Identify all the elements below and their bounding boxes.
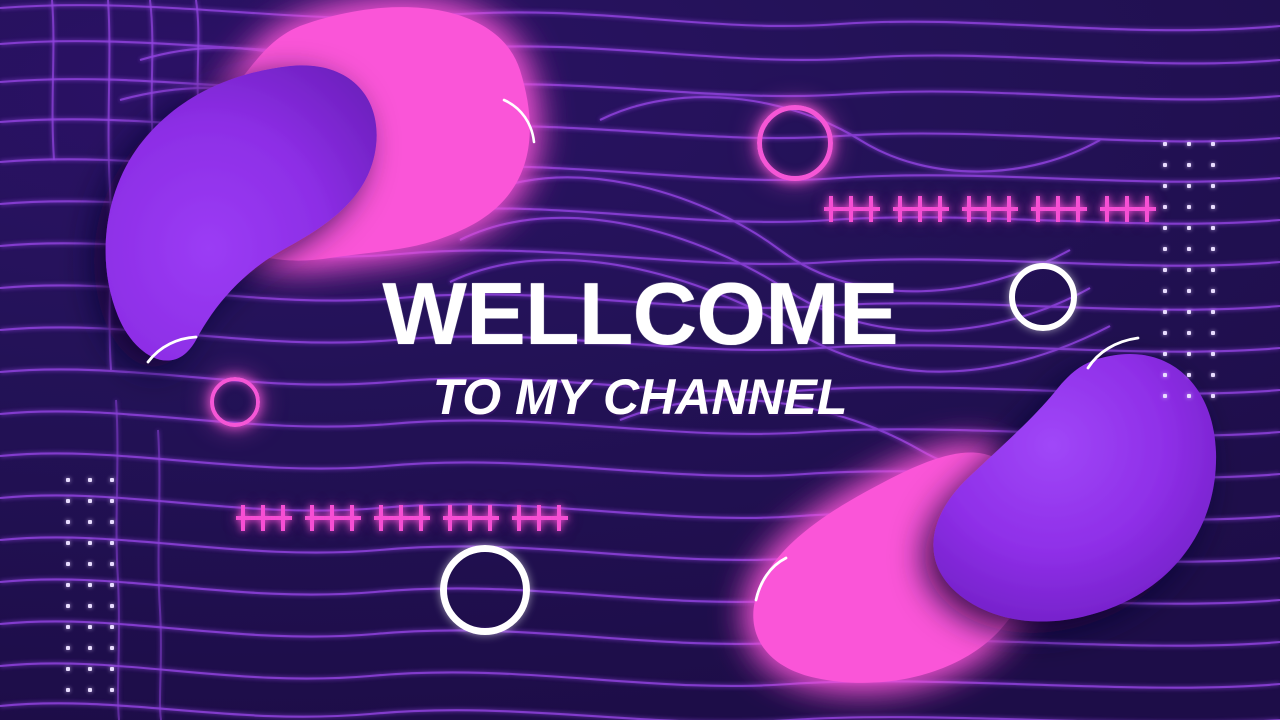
arc-accent-right bbox=[1086, 336, 1142, 377]
ring-white-bottom bbox=[440, 545, 530, 635]
dot-grid-right bbox=[1163, 142, 1235, 415]
ring-pink-left bbox=[210, 377, 260, 427]
ring-white-right bbox=[1009, 263, 1077, 331]
tally-group bbox=[512, 505, 568, 531]
arc-accent-top-left bbox=[500, 98, 550, 153]
tally-group bbox=[962, 196, 1018, 222]
tally-group bbox=[236, 505, 292, 531]
banner-canvas: WELLCOME TO MY CHANNEL bbox=[0, 0, 1280, 720]
dot-grid-left bbox=[66, 478, 132, 709]
tally-group bbox=[893, 196, 949, 222]
tally-group bbox=[374, 505, 430, 531]
tally-group bbox=[305, 505, 361, 531]
ring-pink-top-right bbox=[757, 105, 833, 181]
arc-accent-bottom-left bbox=[752, 556, 792, 609]
tally-marks-top-right bbox=[824, 196, 1156, 222]
tally-group bbox=[1031, 196, 1087, 222]
tally-group bbox=[1100, 196, 1156, 222]
tally-group bbox=[824, 196, 880, 222]
tally-marks-bottom-left bbox=[236, 505, 568, 531]
tally-group bbox=[443, 505, 499, 531]
arc-accent-mid-left bbox=[146, 334, 200, 373]
